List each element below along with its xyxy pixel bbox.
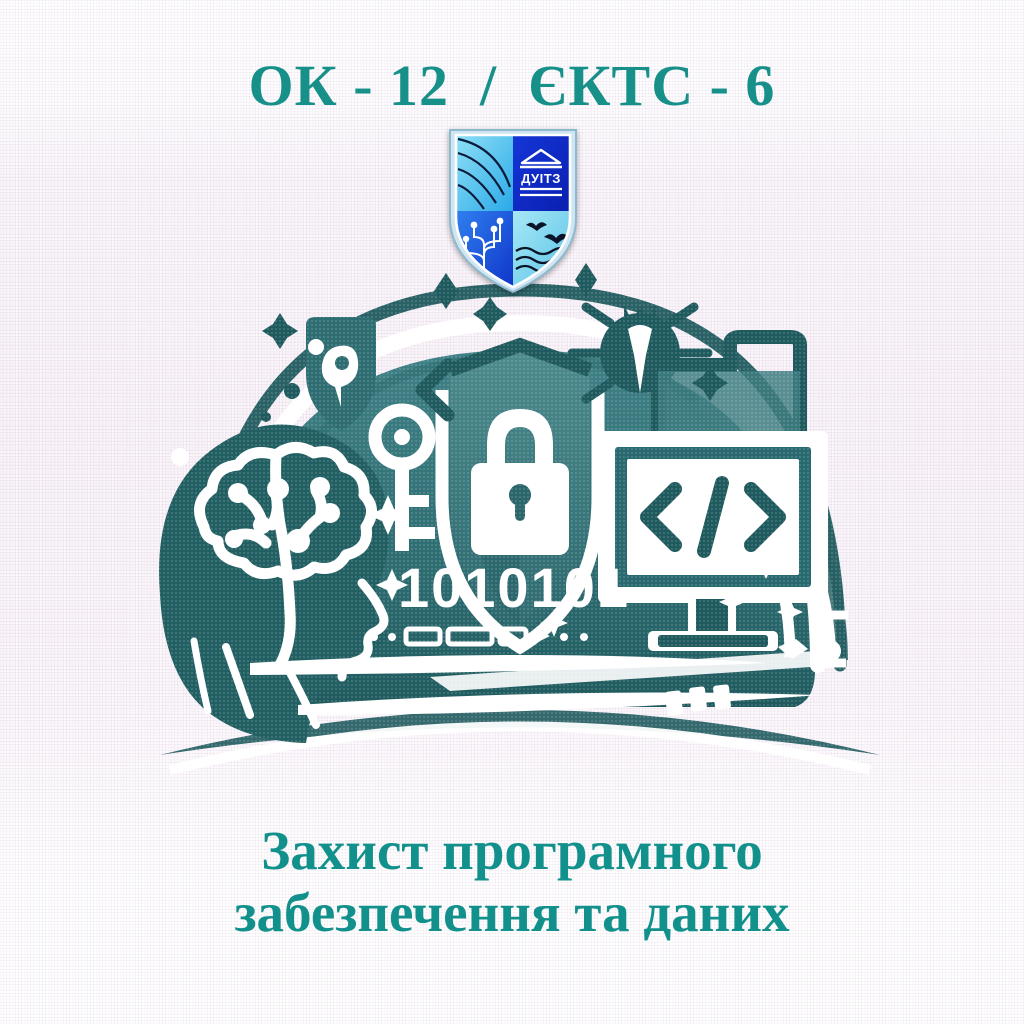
- poster-root: ОК - 12 / ЄКТС - 6: [0, 0, 1024, 1024]
- emblem-abbreviation: ДУІТЗ: [521, 171, 561, 186]
- course-title: Захист програмного забезпечення та даних: [0, 820, 1024, 944]
- course-code-header: ОК - 12 / ЄКТС - 6: [0, 52, 1024, 119]
- course-title-line-2: забезпечення та даних: [0, 882, 1024, 944]
- duitz-emblem: ДУІТЗ: [440, 125, 586, 295]
- course-title-line-1: Захист програмного: [261, 820, 763, 881]
- binary-label: 1010101: [398, 556, 630, 619]
